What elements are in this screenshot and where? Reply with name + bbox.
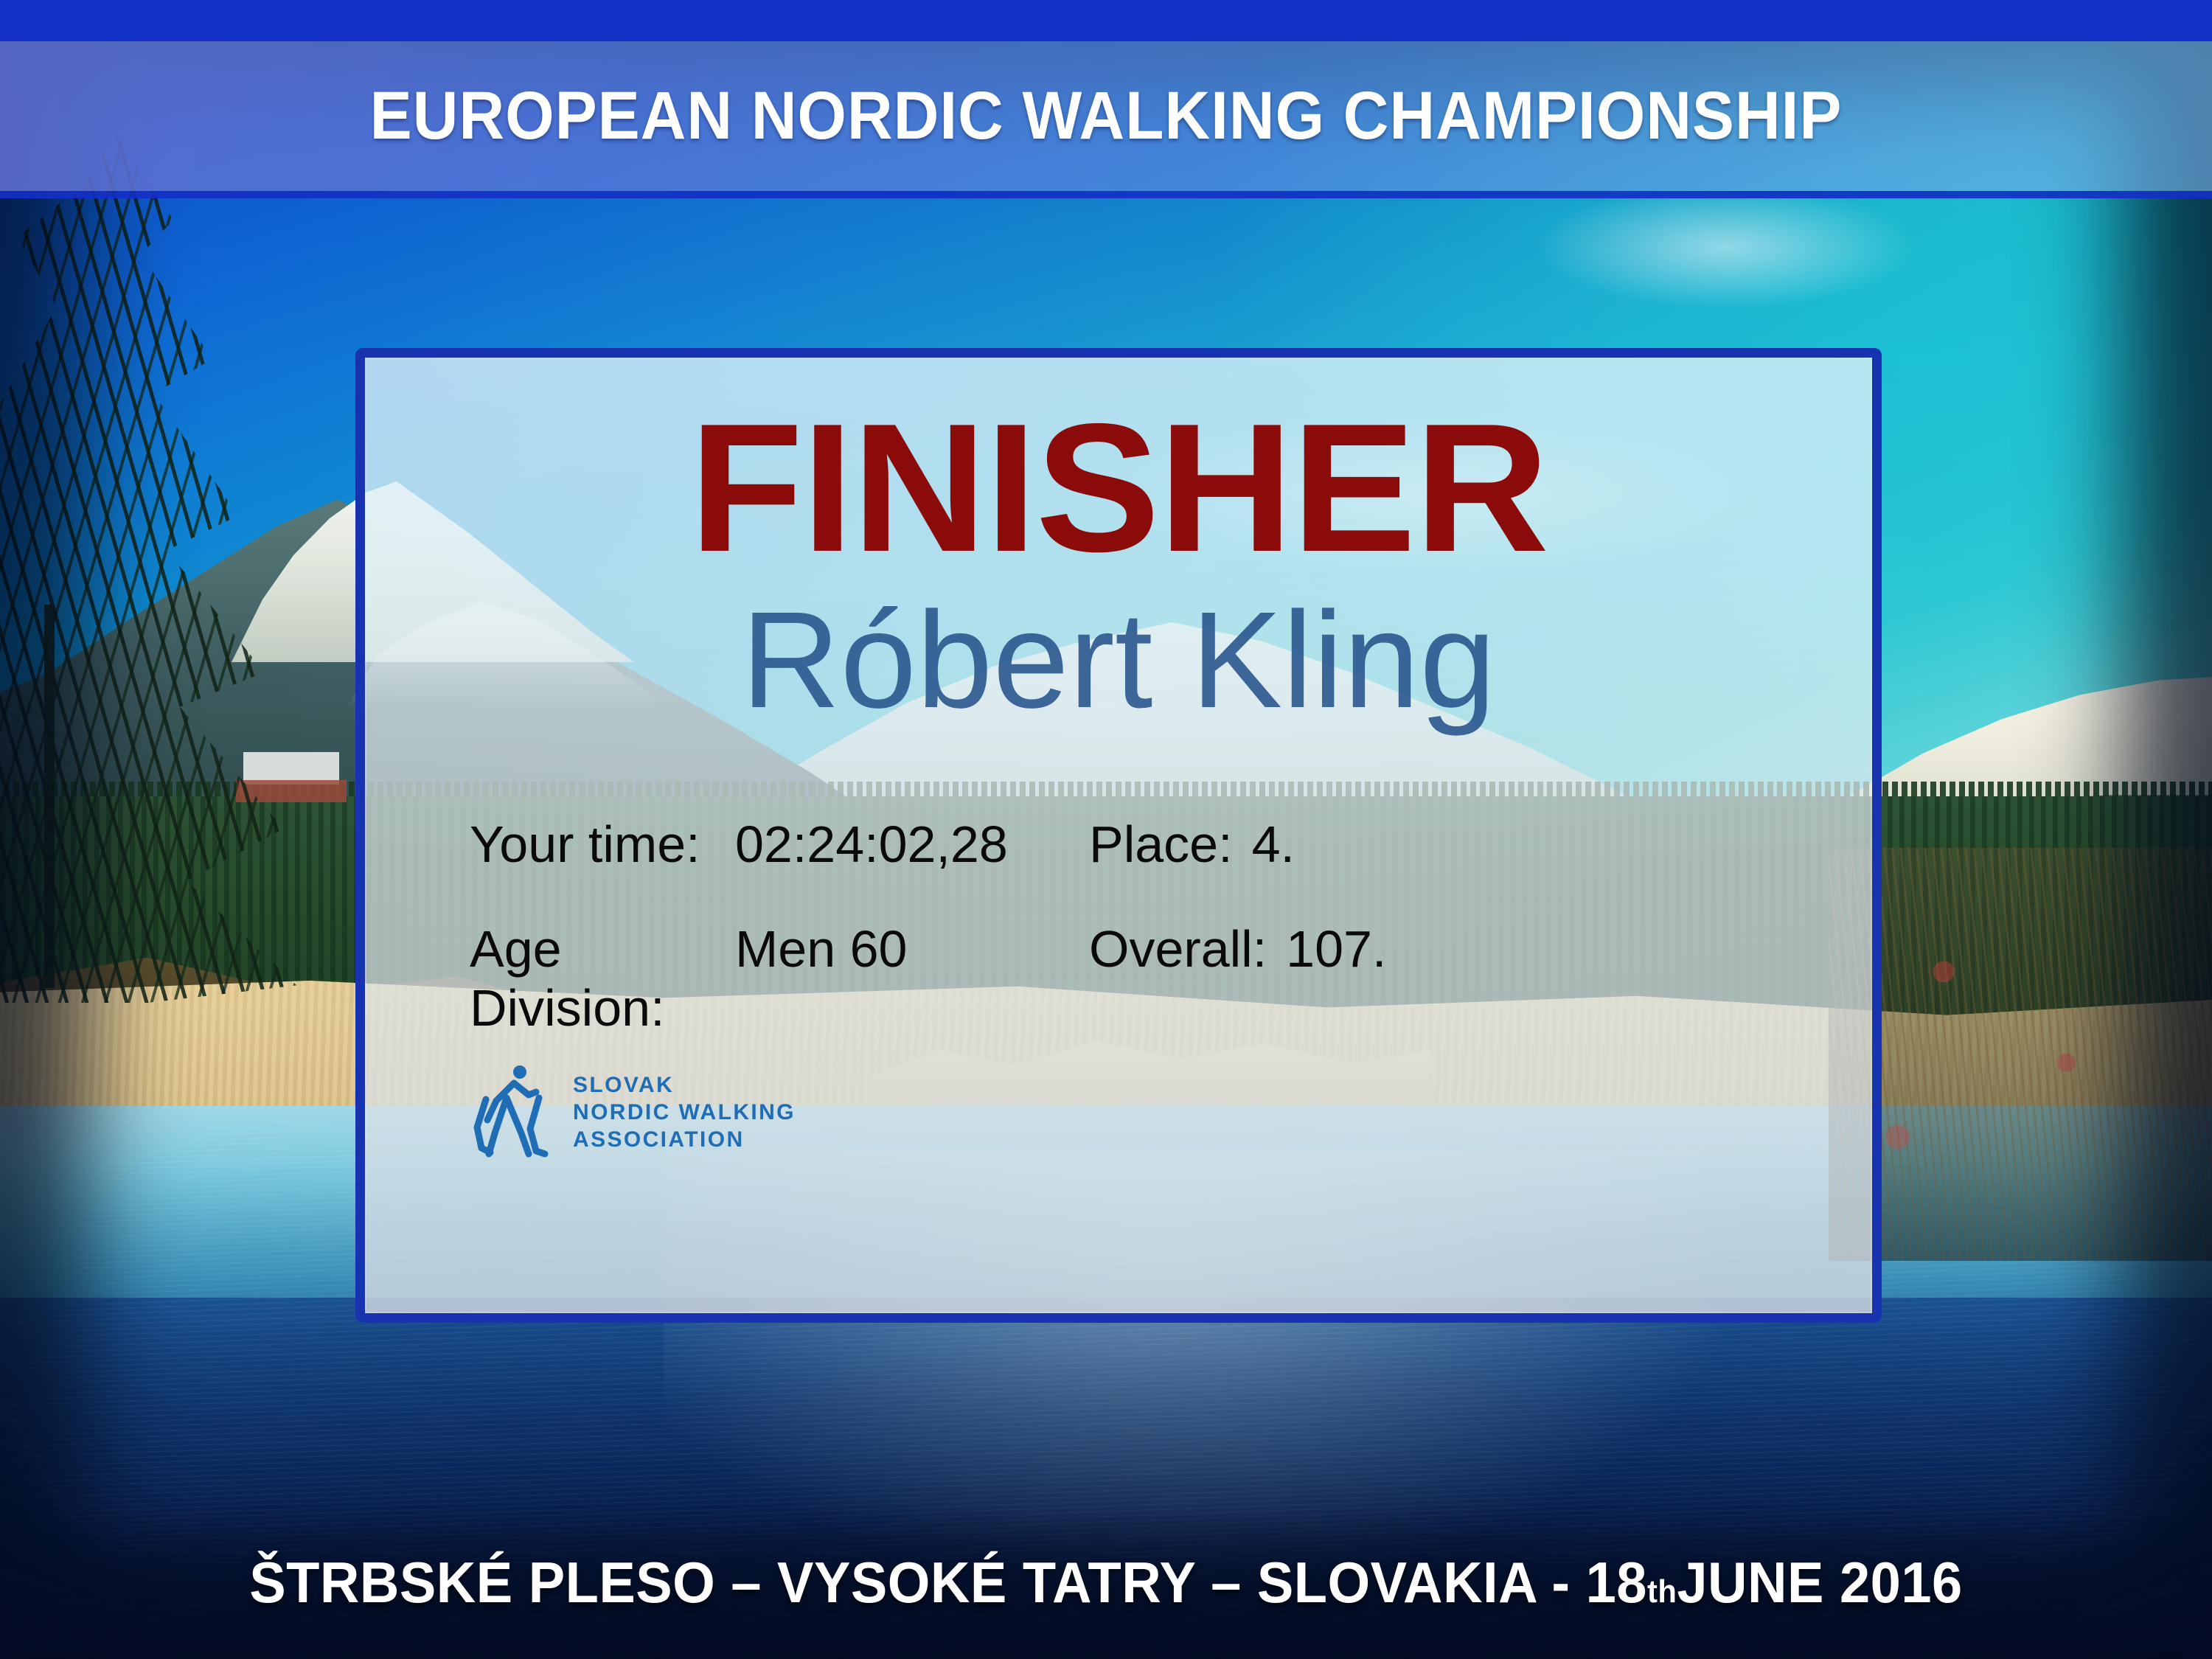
- finisher-heading: FINISHER: [350, 396, 1888, 579]
- result-row-division: Age Division: Men 60 Overall: 107.: [470, 919, 1767, 1037]
- result-details: Your time: 02:24:02,28 Place: 4. Age Div…: [470, 815, 1767, 1083]
- certificate-card: FINISHER Róbert Kling Your time: 02:24:0…: [355, 348, 1882, 1323]
- snwa-line-1: SLOVAK: [573, 1074, 796, 1096]
- nordic-walker-icon: [468, 1065, 554, 1160]
- header-top-strip: [0, 0, 2212, 41]
- result-row-time: Your time: 02:24:02,28 Place: 4.: [470, 815, 1767, 874]
- footer-event-line: ŠTRBSKÉ PLESO – VYSOKÉ TATRY – SLOVAKIA …: [55, 1549, 2157, 1616]
- age-division-value: Men 60: [735, 919, 1082, 978]
- athlete-name: Róbert Kling: [365, 592, 1872, 729]
- overall-value: 107.: [1286, 919, 1386, 978]
- snwa-line-3: ASSOCIATION: [573, 1129, 796, 1151]
- age-division-label: Age Division:: [470, 919, 735, 1037]
- header-title: EUROPEAN NORDIC WALKING CHAMPIONSHIP: [77, 41, 2135, 191]
- snwa-logo-text: SLOVAK NORDIC WALKING ASSOCIATION: [573, 1074, 796, 1151]
- snwa-logo: SLOVAK NORDIC WALKING ASSOCIATION: [468, 1065, 796, 1160]
- header-underline: [0, 191, 2212, 198]
- snwa-line-2: NORDIC WALKING: [573, 1102, 796, 1124]
- place-value: 4.: [1252, 815, 1295, 874]
- footer-location: ŠTRBSKÉ PLESO – VYSOKÉ TATRY – SLOVAKIA …: [249, 1549, 1647, 1616]
- place-label: Place:: [1089, 815, 1233, 874]
- footer-date: JUNE 2016: [1677, 1549, 1962, 1616]
- your-time-value: 02:24:02,28: [735, 815, 1082, 874]
- finisher-certificate-poster: EUROPEAN NORDIC WALKING CHAMPIONSHIP FIN…: [0, 0, 2212, 1659]
- your-time-label: Your time:: [470, 815, 735, 874]
- overall-label: Overall:: [1089, 919, 1267, 978]
